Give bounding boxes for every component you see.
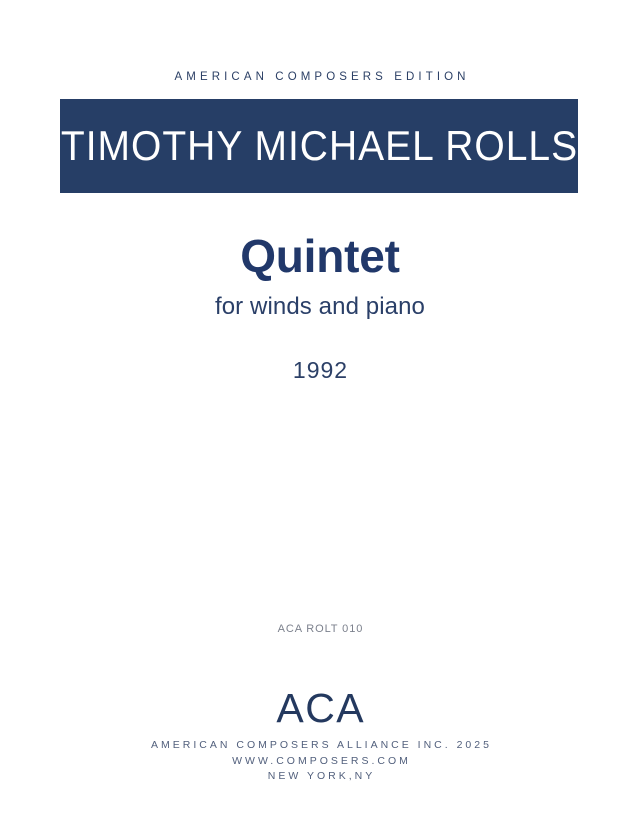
composer-name: TIMOTHY MICHAEL ROLLS — [60, 125, 578, 166]
work-title: Quintet — [0, 232, 640, 282]
imprint-line-website: WWW.COMPOSERS.COM — [0, 754, 640, 770]
work-subtitle: for winds and piano — [0, 294, 640, 320]
imprint-line-city: NEW YORK,NY — [0, 769, 640, 785]
aca-logo: ACA — [0, 688, 640, 729]
catalog-number: ACA ROLT 010 — [0, 623, 640, 635]
score-cover-page: AMERICAN COMPOSERS EDITION TIMOTHY MICHA… — [0, 0, 640, 828]
work-year: 1992 — [0, 358, 640, 383]
publisher-footer: ACA AMERICAN COMPOSERS ALLIANCE INC. 202… — [0, 688, 640, 785]
title-block: Quintet for winds and piano 1992 — [0, 232, 640, 383]
composer-banner: TIMOTHY MICHAEL ROLLS — [60, 99, 578, 193]
edition-line: AMERICAN COMPOSERS EDITION — [0, 71, 640, 83]
publisher-imprint: AMERICAN COMPOSERS ALLIANCE INC. 2025 WW… — [0, 738, 640, 785]
imprint-line-alliance: AMERICAN COMPOSERS ALLIANCE INC. 2025 — [0, 738, 640, 754]
